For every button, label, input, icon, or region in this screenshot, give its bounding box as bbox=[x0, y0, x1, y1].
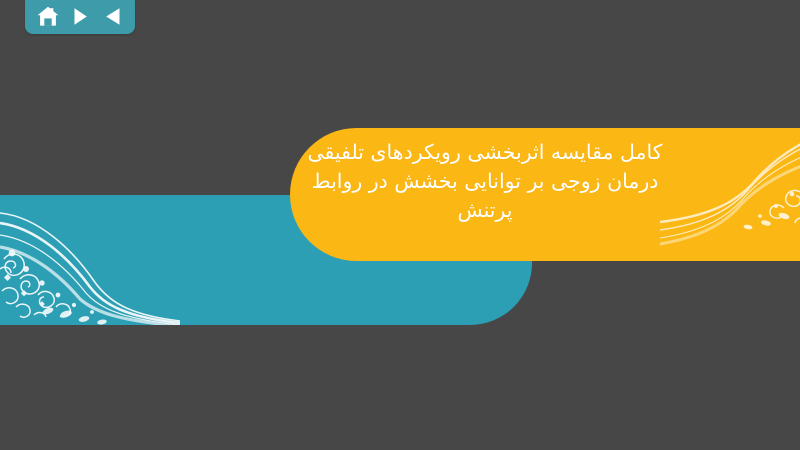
arabesque-ornament-teal bbox=[0, 195, 180, 325]
forward-button[interactable] bbox=[67, 4, 93, 28]
triangle-left-icon bbox=[104, 7, 121, 26]
orange-title-panel bbox=[290, 128, 800, 261]
home-button[interactable] bbox=[35, 4, 61, 28]
triangle-right-icon bbox=[73, 7, 88, 26]
arabesque-ornament-orange bbox=[660, 128, 800, 261]
back-button[interactable] bbox=[99, 4, 125, 28]
navigation-bar bbox=[25, 0, 135, 34]
presentation-slide: کامل مقایسه اثربخشی رویکردهای تلفیقی درم… bbox=[0, 0, 800, 450]
house-icon bbox=[37, 6, 59, 27]
